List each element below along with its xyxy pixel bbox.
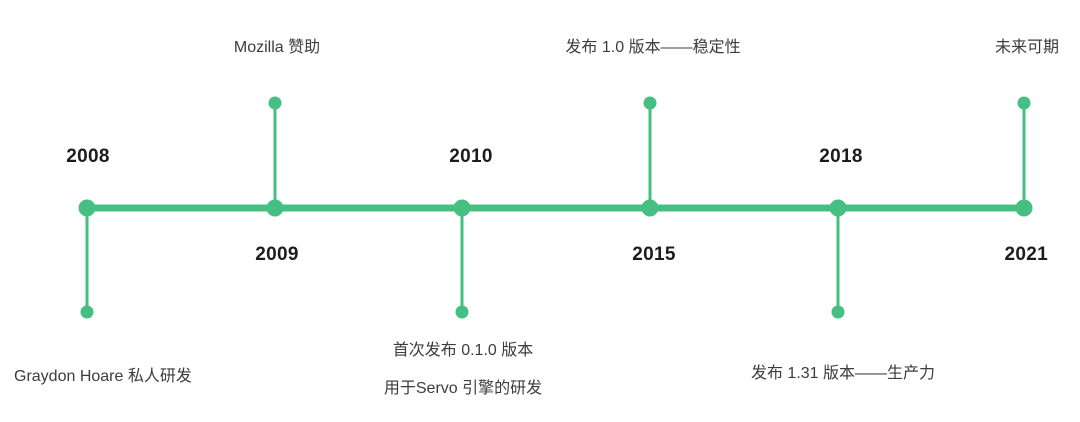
timeline-node-dot-2021[interactable] (1016, 200, 1033, 217)
event-label-2010-line2: 用于Servo 引擎的研发 (384, 378, 542, 400)
timeline-node-dot-2008[interactable] (79, 200, 96, 217)
year-label-2021: 2021 (1005, 244, 1048, 266)
branch-endpoint-dot-2015 (644, 97, 657, 110)
branch-endpoint-dot-2018 (832, 306, 845, 319)
branch-endpoint-dot-2008 (81, 306, 94, 319)
timeline-diagram: 2008 2009 2010 2015 2018 2021 Graydon Ho… (0, 0, 1080, 422)
branch-endpoint-dot-2010 (456, 306, 469, 319)
year-label-2009: 2009 (255, 244, 298, 266)
timeline-node-dot-2018[interactable] (830, 200, 847, 217)
year-label-2010: 2010 (449, 146, 492, 168)
event-label-2010: 首次发布 0.1.0 版本 用于Servo 引擎的研发 (384, 340, 542, 400)
timeline-node-dot-2010[interactable] (454, 200, 471, 217)
year-label-2008: 2008 (66, 146, 109, 168)
event-label-2008: Graydon Hoare 私人研发 (14, 366, 192, 388)
timeline-node-dot-2009[interactable] (267, 200, 284, 217)
event-label-2009: Mozilla 赞助 (234, 37, 320, 59)
timeline-node-dot-2015[interactable] (642, 200, 659, 217)
branch-endpoint-dot-2021 (1018, 97, 1031, 110)
event-label-2021: 未来可期 (995, 37, 1059, 59)
branch-endpoint-dot-2009 (269, 97, 282, 110)
event-label-2018: 发布 1.31 版本——生产力 (751, 363, 935, 385)
event-label-2015: 发布 1.0 版本——稳定性 (565, 37, 740, 59)
year-label-2018: 2018 (819, 146, 862, 168)
year-label-2015: 2015 (632, 244, 675, 266)
event-label-2010-line1: 首次发布 0.1.0 版本 (393, 342, 533, 359)
